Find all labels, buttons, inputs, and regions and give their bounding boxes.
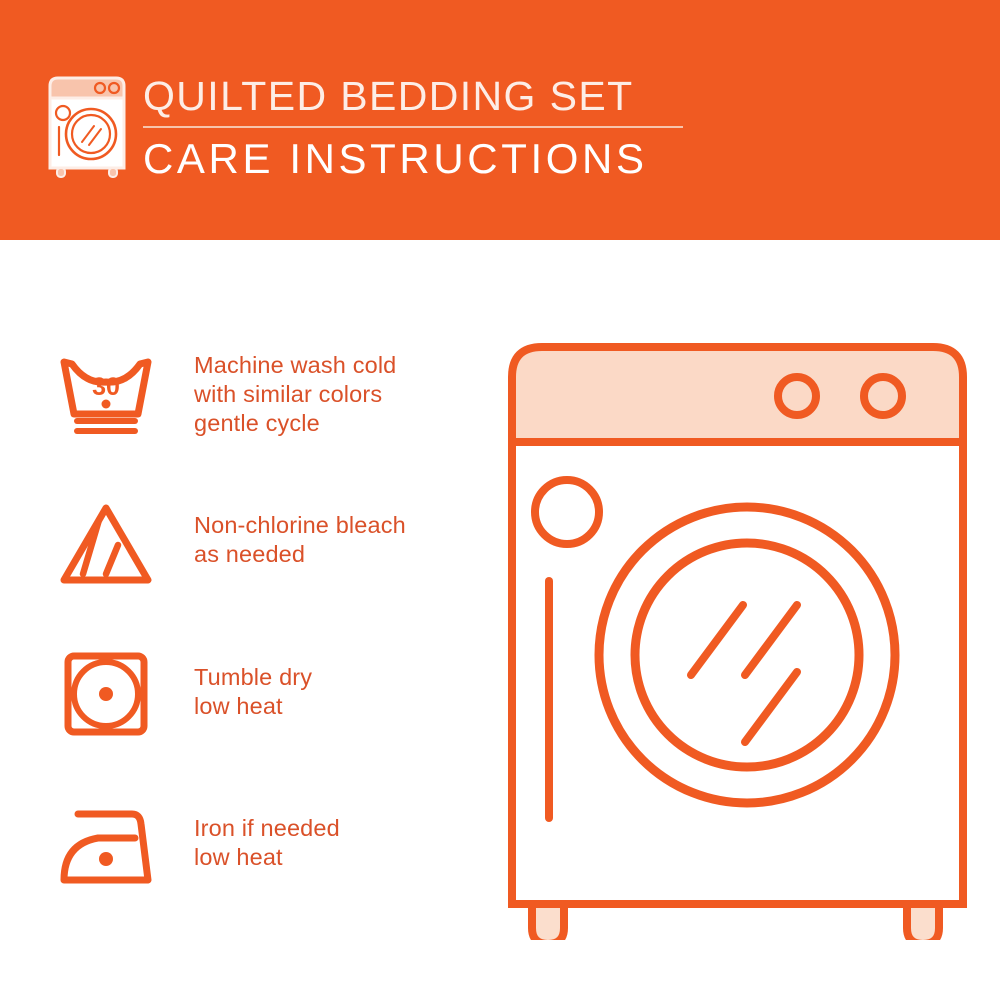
- care-item-label: Iron if needed low heat: [194, 798, 340, 872]
- leg-left: [532, 904, 564, 940]
- page-title: QUILTED BEDDING SET: [143, 72, 703, 120]
- wash-tub-30-icon: 30: [50, 345, 162, 445]
- wash-temperature-value: 30: [92, 373, 120, 401]
- care-instructions-page: QUILTED BEDDING SET CARE INSTRUCTIONS 30…: [0, 0, 1000, 1000]
- title-divider: [143, 126, 683, 128]
- care-item-label: Machine wash cold with similar colors ge…: [194, 345, 396, 438]
- iron-low-heat-icon: [50, 798, 162, 898]
- control-panel: [512, 347, 963, 442]
- care-instruction-list: 30 Machine wash cold with similar colors…: [0, 240, 490, 1000]
- leg-right: [907, 904, 939, 940]
- care-item-iron: Iron if needed low heat: [50, 798, 480, 898]
- page-subtitle: CARE INSTRUCTIONS: [143, 134, 703, 184]
- washing-machine-illustration: [495, 330, 980, 940]
- care-item-machine-wash: 30 Machine wash cold with similar colors…: [50, 345, 480, 445]
- care-item-label: Tumble dry low heat: [194, 645, 312, 721]
- care-item-bleach: Non-chlorine bleach as needed: [50, 493, 480, 593]
- care-item-label: Non-chlorine bleach as needed: [194, 493, 406, 569]
- washing-machine-icon: [44, 72, 130, 180]
- non-chlorine-bleach-triangle-icon: [50, 493, 162, 593]
- care-item-tumble-dry: Tumble dry low heat: [50, 645, 480, 745]
- tumble-dry-low-heat-icon: [50, 645, 162, 745]
- header-banner: QUILTED BEDDING SET CARE INSTRUCTIONS: [0, 0, 1000, 240]
- header-title-block: QUILTED BEDDING SET CARE INSTRUCTIONS: [143, 72, 703, 184]
